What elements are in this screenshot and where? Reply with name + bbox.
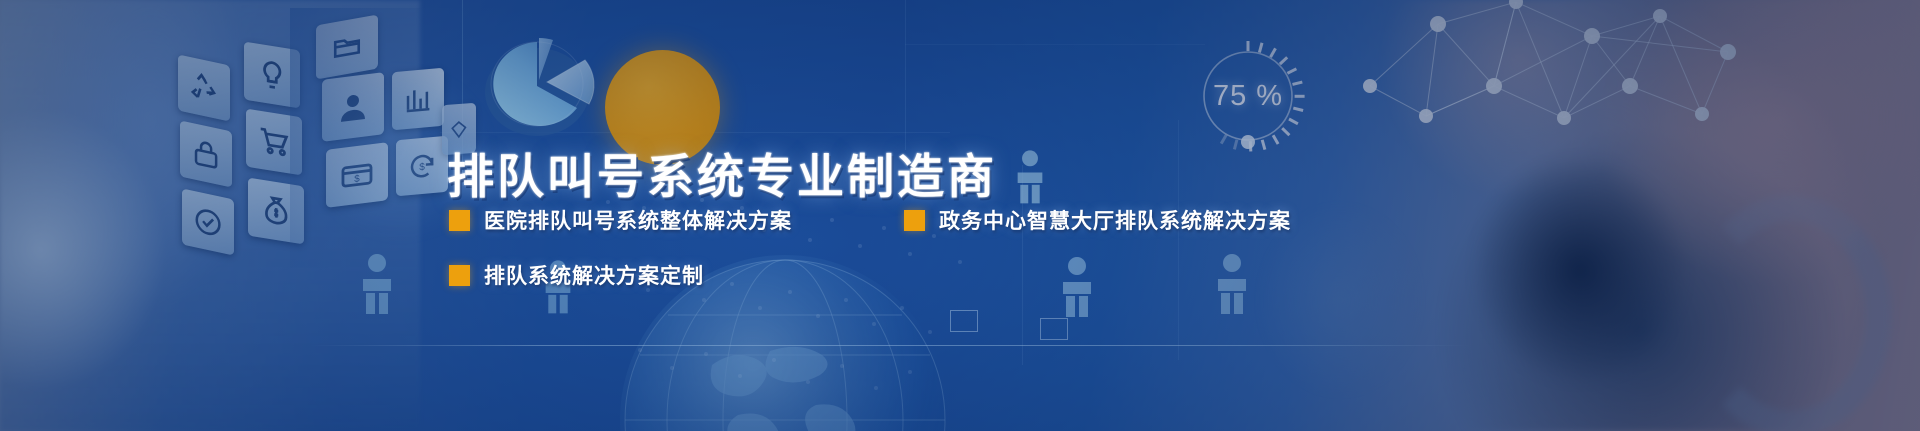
bullet-label: 政务中心智慧大厅排队系统解决方案	[939, 205, 1291, 235]
bullet-item-hospital: 医院排队叫号系统整体解决方案	[449, 205, 792, 235]
banner-hero: $ $	[0, 0, 1920, 431]
bullet-label: 医院排队叫号系统整体解决方案	[484, 205, 792, 235]
bullet-square-icon	[449, 265, 470, 286]
bullet-list: 医院排队叫号系统整体解决方案 政务中心智慧大厅排队系统解决方案 排队系统解决方案…	[449, 205, 1349, 315]
bullet-row-1: 医院排队叫号系统整体解决方案 政务中心智慧大厅排队系统解决方案	[449, 205, 1349, 260]
page-title: 排队叫号系统专业制造商	[447, 138, 997, 207]
bullet-item-government: 政务中心智慧大厅排队系统解决方案	[904, 205, 1291, 235]
bullet-square-icon	[904, 210, 925, 231]
bullet-item-custom: 排队系统解决方案定制	[449, 260, 704, 290]
bullet-square-icon	[449, 210, 470, 231]
bullet-row-2: 排队系统解决方案定制	[449, 260, 1349, 315]
bullet-label: 排队系统解决方案定制	[484, 260, 704, 290]
